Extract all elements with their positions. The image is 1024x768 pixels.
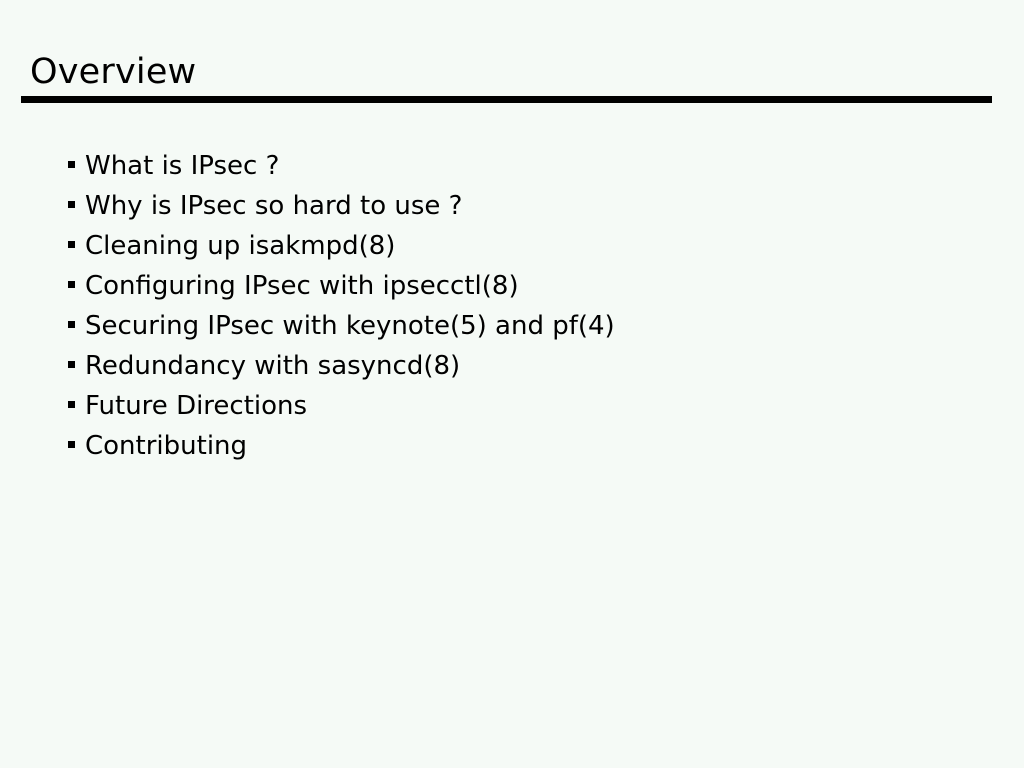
square-bullet-icon xyxy=(68,441,75,448)
page-title: Overview xyxy=(30,52,196,92)
list-item-label: Cleaning up isakmpd(8) xyxy=(85,226,395,266)
list-item-label: What is IPsec ? xyxy=(85,146,279,186)
list-item: Contributing xyxy=(68,426,615,466)
list-item-label: Securing IPsec with keynote(5) and pf(4) xyxy=(85,306,615,346)
presentation-slide: Overview What is IPsec ? Why is IPsec so… xyxy=(0,0,1024,768)
list-item-label: Configuring IPsec with ipsecctl(8) xyxy=(85,266,519,306)
title-divider xyxy=(21,96,992,103)
square-bullet-icon xyxy=(68,161,75,168)
square-bullet-icon xyxy=(68,281,75,288)
square-bullet-icon xyxy=(68,201,75,208)
overview-bullet-list: What is IPsec ? Why is IPsec so hard to … xyxy=(68,146,615,466)
list-item: Future Directions xyxy=(68,386,615,426)
square-bullet-icon xyxy=(68,241,75,248)
list-item: Cleaning up isakmpd(8) xyxy=(68,226,615,266)
list-item-label: Why is IPsec so hard to use ? xyxy=(85,186,462,226)
square-bullet-icon xyxy=(68,401,75,408)
list-item-label: Redundancy with sasyncd(8) xyxy=(85,346,460,386)
list-item-label: Future Directions xyxy=(85,386,307,426)
list-item: Why is IPsec so hard to use ? xyxy=(68,186,615,226)
list-item: Securing IPsec with keynote(5) and pf(4) xyxy=(68,306,615,346)
square-bullet-icon xyxy=(68,321,75,328)
list-item: What is IPsec ? xyxy=(68,146,615,186)
list-item: Configuring IPsec with ipsecctl(8) xyxy=(68,266,615,306)
square-bullet-icon xyxy=(68,361,75,368)
list-item-label: Contributing xyxy=(85,426,247,466)
list-item: Redundancy with sasyncd(8) xyxy=(68,346,615,386)
